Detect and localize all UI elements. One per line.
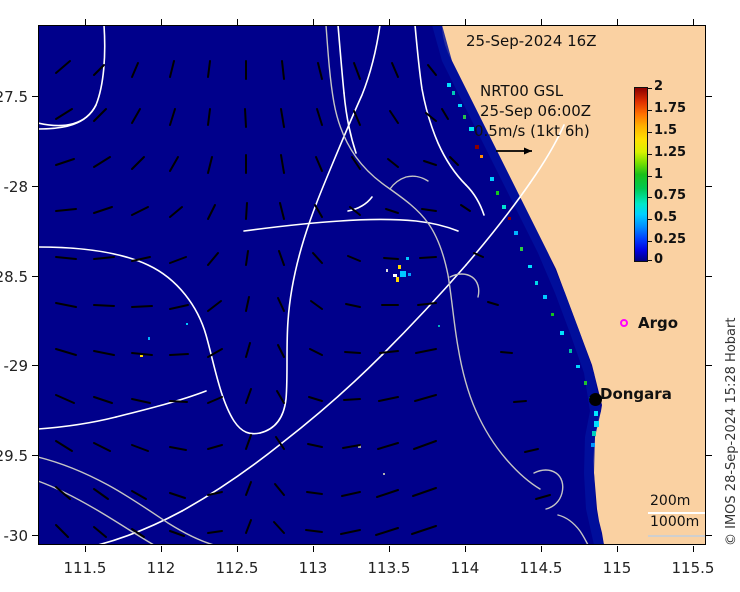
x-tick-top <box>693 19 694 25</box>
reference-vector-arrow-icon <box>494 143 540 159</box>
depth-200m-label: 200m <box>650 493 690 509</box>
x-tick <box>693 546 694 552</box>
colorbar-dash <box>648 132 652 133</box>
colorbar-dash <box>648 260 652 261</box>
x-tick-top <box>617 19 618 25</box>
y-tick-right <box>706 276 712 277</box>
x-tick <box>313 546 314 552</box>
x-tick-top <box>541 19 542 25</box>
y-tick <box>32 96 38 97</box>
y-tick-label: -30 <box>0 527 28 545</box>
colorbar-dash <box>648 219 652 220</box>
x-tick-label: 115 <box>577 559 657 577</box>
x-tick-top <box>465 19 466 25</box>
depth-1000m-label: 1000m <box>650 514 699 530</box>
copyright-notice: © IMOS 28-Sep-2024 15:28 Hobart <box>724 318 739 546</box>
colorbar-dash <box>648 88 652 89</box>
map-plot-area[interactable]: 25-Sep-2024 16Z NRT00 GSL 25-Sep 06:00Z … <box>38 25 706 545</box>
x-tick-label: 112 <box>121 559 201 577</box>
y-tick <box>32 276 38 277</box>
x-tick-top <box>85 19 86 25</box>
x-tick <box>465 546 466 552</box>
y-tick-right <box>706 535 712 536</box>
x-tick <box>389 546 390 552</box>
colorbar-tick-label: 2 <box>654 79 663 94</box>
x-tick-label: 113 <box>273 559 353 577</box>
colorbar-dash <box>648 241 652 242</box>
y-tick-right <box>706 96 712 97</box>
colorbar-tick-label: 0.25 <box>654 232 686 247</box>
x-tick-top <box>313 19 314 25</box>
x-tick <box>85 546 86 552</box>
dongara-label: Dongara <box>600 385 672 403</box>
colorbar-tick-label: 1 <box>654 167 663 182</box>
x-tick-label: 111.5 <box>45 559 125 577</box>
vector-scale-label: 0.5m/s (1kt 6h) <box>474 122 590 140</box>
model-name-label: NRT00 GSL <box>480 82 563 100</box>
y-tick-label: -28.5 <box>0 268 28 286</box>
x-tick <box>617 546 618 552</box>
y-tick <box>32 365 38 366</box>
y-tick-right <box>706 455 712 456</box>
colorbar-tick-label: 1.75 <box>654 101 686 116</box>
y-tick-label: -29.5 <box>0 447 28 465</box>
model-time-label: 25-Sep 06:00Z <box>480 102 591 120</box>
colorbar-dash <box>648 110 652 111</box>
x-tick <box>161 546 162 552</box>
y-tick <box>32 535 38 536</box>
argo-marker-icon[interactable] <box>620 319 628 327</box>
x-tick-label: 114.5 <box>501 559 581 577</box>
y-tick-label: -28 <box>0 178 28 196</box>
x-tick-label: 112.5 <box>197 559 277 577</box>
argo-label: Argo <box>638 314 678 332</box>
map-layers <box>38 25 706 545</box>
figure-canvas: 25-Sep-2024 16Z NRT00 GSL 25-Sep 06:00Z … <box>0 0 740 592</box>
y-tick <box>32 455 38 456</box>
colorbar-gradient <box>634 87 648 262</box>
colorbar-dash <box>648 154 652 155</box>
x-tick <box>237 546 238 552</box>
y-tick-label: -29 <box>0 357 28 375</box>
y-tick <box>32 186 38 187</box>
depth-1000m-rule <box>648 535 706 537</box>
x-tick-top <box>389 19 390 25</box>
x-tick-top <box>237 19 238 25</box>
x-tick <box>541 546 542 552</box>
x-tick-label: 115.5 <box>653 559 733 577</box>
date-stamp: 25-Sep-2024 16Z <box>466 32 597 50</box>
colorbar-tick-label: 0.5 <box>654 210 677 225</box>
colorbar-dash <box>648 197 652 198</box>
x-tick-top <box>161 19 162 25</box>
x-tick-label: 113.5 <box>349 559 429 577</box>
colorbar-dash <box>648 176 652 177</box>
colorbar-tick-label: 0 <box>654 252 663 267</box>
x-tick-label: 114 <box>425 559 505 577</box>
y-tick-label: -27.5 <box>0 88 28 106</box>
colorbar-tick-label: 1.5 <box>654 123 677 138</box>
y-tick-right <box>706 186 712 187</box>
colorbar-tick-label: 0.75 <box>654 188 686 203</box>
y-tick-right <box>706 365 712 366</box>
colorbar-tick-label: 1.25 <box>654 145 686 160</box>
